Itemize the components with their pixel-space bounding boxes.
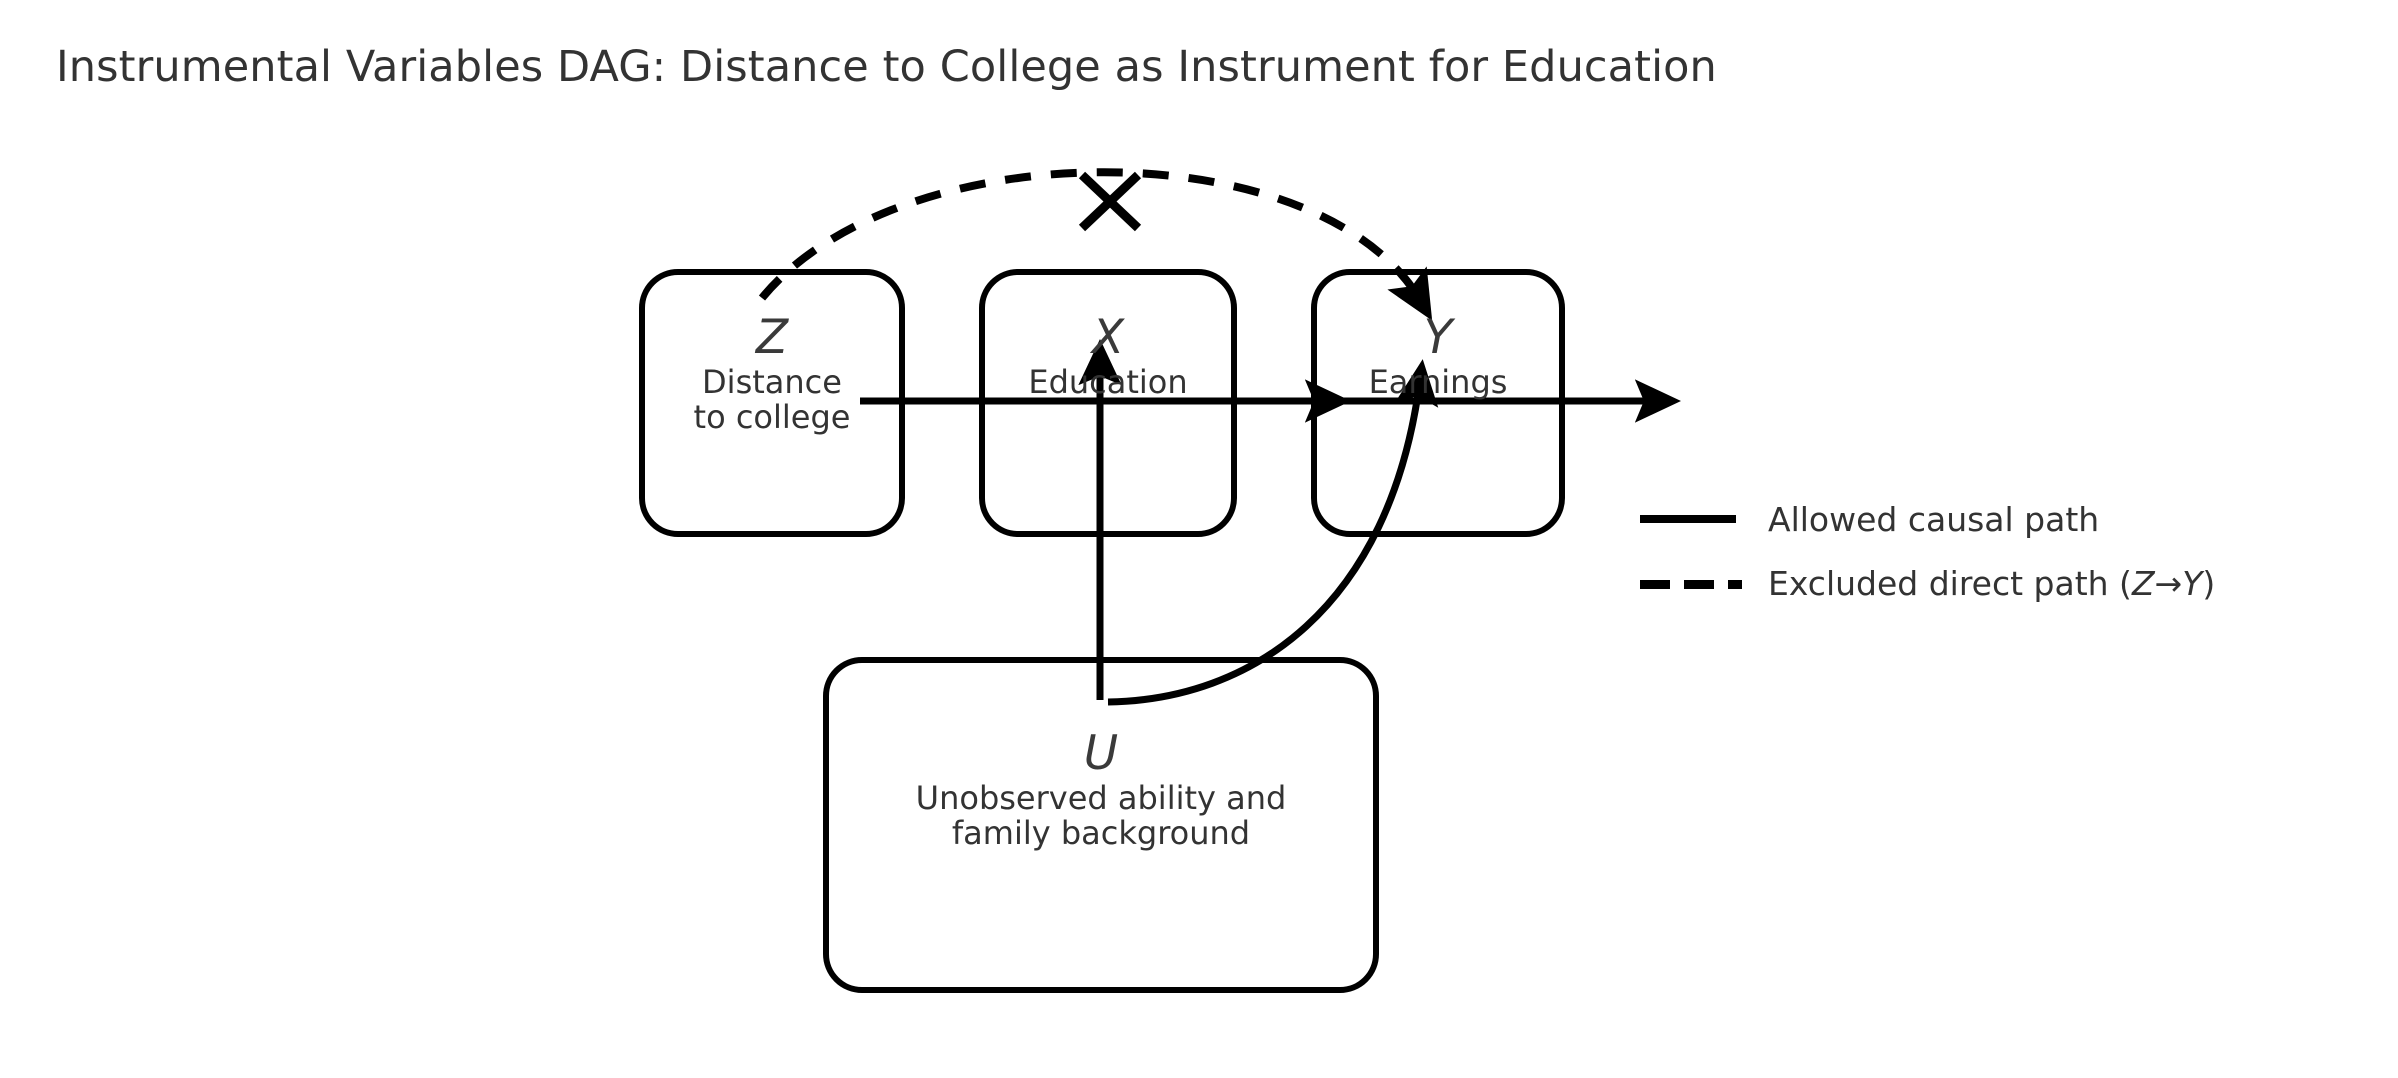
legend-swatch-solid bbox=[1640, 515, 1736, 523]
node-letter-y: Y bbox=[1314, 312, 1562, 365]
node-label-u: U Unobserved ability and family backgrou… bbox=[826, 728, 1376, 852]
node-desc-u-line1: Unobserved ability and bbox=[826, 781, 1376, 817]
node-desc-z-line2: to college bbox=[642, 400, 902, 436]
node-desc-u-line2: family background bbox=[826, 816, 1376, 852]
legend-excluded-arrow: → bbox=[2155, 564, 2183, 603]
diagram-canvas: Instrumental Variables DAG: Distance to … bbox=[0, 0, 2398, 1078]
node-label-x: X Education bbox=[982, 312, 1234, 400]
node-desc-z-line1: Distance bbox=[642, 365, 902, 401]
excluded-path-cross-icon bbox=[1082, 175, 1138, 228]
legend-excluded-prefix: Excluded direct path ( bbox=[1768, 564, 2132, 603]
node-label-z: Z Distance to college bbox=[642, 312, 902, 436]
node-desc-y-line1: Earnings bbox=[1314, 365, 1562, 401]
legend-label-excluded: Excluded direct path (Z→Y) bbox=[1768, 564, 2215, 603]
node-label-y: Y Earnings bbox=[1314, 312, 1562, 400]
legend-excluded-suffix: ) bbox=[2202, 564, 2215, 603]
node-letter-z: Z bbox=[642, 312, 902, 365]
legend-excluded-var2: Y bbox=[2182, 564, 2202, 603]
node-desc-x-line1: Education bbox=[982, 365, 1234, 401]
node-letter-u: U bbox=[826, 728, 1376, 781]
node-letter-x: X bbox=[982, 312, 1234, 365]
legend-excluded-var1: Z bbox=[2132, 564, 2155, 603]
diagram-edges-layer bbox=[0, 0, 2398, 1078]
legend-label-allowed: Allowed causal path bbox=[1768, 500, 2099, 539]
